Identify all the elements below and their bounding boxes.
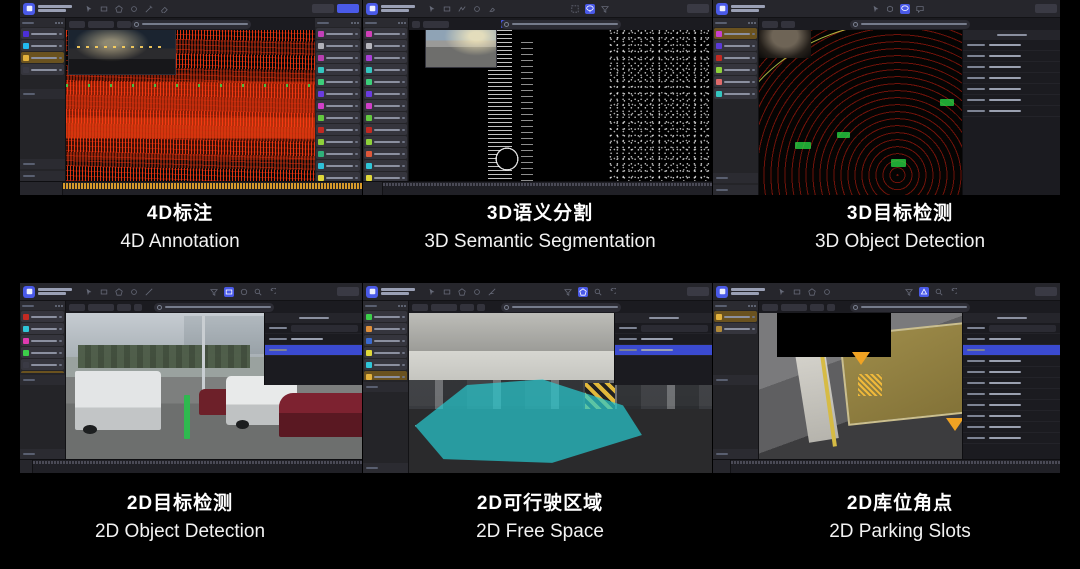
search-input[interactable] [850, 303, 970, 312]
annotated-car [279, 393, 362, 437]
frame-button[interactable] [117, 304, 131, 311]
sidebar-section[interactable] [713, 449, 758, 459]
panel-4d-annotation[interactable] [20, 0, 362, 195]
caption-english: 3D Semantic Segmentation [360, 228, 720, 255]
corner-point-cluster [858, 374, 882, 396]
filter-icon[interactable] [210, 288, 218, 296]
caption-row-top: 4D标注 4D Annotation 3D语义分割 3D Semantic Se… [0, 200, 1080, 255]
timeline[interactable] [20, 459, 362, 473]
line-icon[interactable] [145, 288, 153, 296]
caption-chinese: 2D可行驶区域 [360, 490, 720, 518]
toolbar-secondary[interactable] [210, 287, 276, 297]
app-title [381, 288, 415, 295]
app-title [381, 5, 415, 12]
search-icon [134, 22, 139, 27]
magic-wand-icon[interactable] [145, 5, 153, 13]
class-sidebar[interactable] [713, 301, 759, 459]
more-options-icon[interactable] [398, 305, 406, 307]
class-list[interactable] [713, 27, 758, 100]
point-icon[interactable] [823, 288, 831, 296]
frame-button[interactable] [117, 21, 131, 28]
caption-english: 2D Object Detection [0, 518, 360, 545]
rectangle-icon[interactable] [793, 288, 801, 296]
titlebar-actions[interactable] [1035, 4, 1057, 13]
class-list[interactable] [363, 27, 408, 181]
toolbar-secondary[interactable] [564, 287, 616, 297]
caption-chinese: 3D目标检测 [720, 200, 1080, 228]
class-item[interactable] [714, 88, 757, 99]
toolbar[interactable] [85, 288, 153, 296]
polyline-icon[interactable] [458, 5, 466, 13]
class-sidebar[interactable] [713, 18, 759, 195]
sidebar-section[interactable] [20, 171, 65, 181]
timeline-label [713, 460, 731, 473]
frame-ruler[interactable] [731, 460, 1060, 473]
titlebar-actions[interactable] [1035, 287, 1057, 296]
filter-icon[interactable] [601, 5, 609, 13]
viewport-2d-object-detection[interactable] [66, 301, 362, 459]
app-titlebar [713, 283, 1060, 301]
class-list[interactable] [20, 27, 65, 87]
polygon-icon[interactable] [458, 288, 466, 296]
corner-marker-icon [946, 418, 964, 431]
class-item[interactable] [21, 28, 64, 39]
view-mode-button[interactable] [762, 304, 778, 311]
class-item[interactable] [316, 124, 360, 135]
class-item[interactable] [364, 160, 407, 171]
more-options-icon[interactable] [55, 305, 63, 307]
sidebar-section[interactable] [20, 89, 65, 99]
class-item[interactable] [316, 100, 360, 111]
panel-2d-object-detection[interactable] [20, 283, 362, 473]
circle-icon[interactable] [240, 288, 248, 296]
app-title [731, 288, 765, 295]
class-item[interactable] [316, 136, 360, 147]
sidebar-section[interactable] [713, 173, 758, 183]
class-item[interactable] [316, 172, 360, 181]
titlebar-actions[interactable] [687, 287, 709, 296]
layer-button[interactable] [781, 304, 807, 311]
fit-button[interactable] [134, 304, 142, 311]
sidebar-section[interactable] [713, 375, 758, 385]
search-input[interactable] [501, 20, 621, 29]
view-mode-button[interactable] [762, 21, 778, 28]
class-item[interactable] [316, 160, 360, 171]
class-item[interactable] [316, 88, 360, 99]
class-item[interactable] [364, 148, 407, 159]
property-row[interactable] [963, 51, 1060, 62]
caption-chinese: 3D语义分割 [360, 200, 720, 228]
class-item[interactable] [714, 64, 757, 75]
panel-body [713, 301, 1060, 459]
property-row[interactable] [963, 422, 1060, 433]
class-item[interactable] [364, 172, 407, 181]
app-titlebar [20, 283, 362, 301]
toolbar-secondary[interactable] [905, 287, 957, 297]
panel-body [363, 301, 712, 473]
properties-title [963, 30, 1060, 40]
comment-icon[interactable] [916, 5, 924, 13]
secondary-action-button[interactable] [312, 4, 334, 13]
polygon-select-icon[interactable] [578, 287, 588, 297]
caption-english: 2D Free Space [360, 518, 720, 545]
rectangle-icon[interactable] [100, 288, 108, 296]
layer-button[interactable] [423, 21, 449, 28]
property-row[interactable] [615, 323, 712, 334]
filter-icon[interactable] [905, 288, 913, 296]
caption-2d-object-detection: 2D目标检测 2D Object Detection [0, 490, 360, 545]
property-row-selected[interactable] [963, 345, 1060, 356]
fit-button[interactable] [827, 304, 835, 311]
properties-title [963, 313, 1060, 323]
point-icon[interactable] [473, 288, 481, 296]
property-row[interactable] [963, 411, 1060, 422]
polygon-icon[interactable] [115, 288, 123, 296]
property-row[interactable] [963, 106, 1060, 117]
panel-body [20, 18, 362, 181]
property-row[interactable] [265, 334, 362, 345]
viewport-2d-parking-slots[interactable] [759, 301, 1060, 459]
class-item[interactable] [21, 64, 64, 75]
point-icon[interactable] [130, 288, 138, 296]
property-row[interactable] [963, 389, 1060, 400]
class-item-selected[interactable] [21, 52, 64, 63]
search-icon [504, 305, 509, 310]
search-input[interactable] [131, 20, 251, 29]
toolbar[interactable] [778, 288, 831, 296]
sidebar-section[interactable] [363, 463, 408, 473]
class-list[interactable] [20, 310, 65, 373]
viewport-2d-free-space[interactable] [409, 301, 712, 473]
panel-body [363, 18, 712, 181]
class-item[interactable] [316, 28, 360, 39]
layer-button[interactable] [431, 304, 457, 311]
app-title [731, 5, 765, 12]
class-item-selected[interactable] [714, 311, 757, 322]
app-logo-icon [366, 3, 378, 15]
viewport-4d-annotation[interactable] [66, 18, 315, 181]
layer-button[interactable] [88, 21, 114, 28]
class-item[interactable] [714, 323, 757, 334]
sidebar-header [20, 301, 65, 310]
cursor-icon[interactable] [428, 288, 436, 296]
polygon-icon[interactable] [808, 288, 816, 296]
class-item[interactable] [364, 76, 407, 87]
frame-button[interactable] [460, 304, 474, 311]
app-title [38, 5, 72, 12]
property-row[interactable] [963, 95, 1060, 106]
corner-marker-icon [852, 352, 870, 365]
more-options-icon[interactable] [351, 22, 359, 24]
lasso-icon[interactable] [900, 4, 910, 14]
point-icon[interactable] [130, 5, 138, 13]
point-icon[interactable] [473, 5, 481, 13]
toolbar[interactable] [85, 5, 168, 13]
view-mode-button[interactable] [69, 21, 85, 28]
property-row[interactable] [963, 367, 1060, 378]
sidebar-header [713, 301, 758, 310]
class-item[interactable] [364, 52, 407, 63]
caption-2d-free-space: 2D可行驶区域 2D Free Space [360, 490, 720, 545]
toolbar[interactable] [428, 5, 496, 13]
titlebar-actions[interactable] [312, 4, 359, 13]
app-logo-icon [23, 286, 35, 298]
annotated-bollard [184, 395, 190, 439]
toolbar[interactable] [428, 288, 496, 296]
toolbar-secondary[interactable] [571, 4, 609, 14]
secondary-action-button[interactable] [687, 287, 709, 296]
zoom-icon[interactable] [935, 288, 943, 296]
sidebar-header [20, 18, 65, 27]
sidebar-header [363, 18, 408, 27]
cursor-icon[interactable] [85, 288, 93, 296]
property-row[interactable] [963, 378, 1060, 389]
eraser-icon[interactable] [160, 5, 168, 13]
search-icon [853, 22, 858, 27]
property-row[interactable] [963, 433, 1060, 444]
app-logo-icon [716, 286, 728, 298]
property-row[interactable] [963, 73, 1060, 84]
search-input[interactable] [154, 303, 274, 312]
class-item[interactable] [364, 28, 407, 39]
sidebar-header [315, 18, 361, 27]
lasso-icon[interactable] [585, 4, 595, 14]
panel-3d-semantic-segmentation[interactable] [363, 0, 712, 195]
class-list[interactable] [713, 310, 758, 373]
class-item[interactable] [316, 64, 360, 75]
properties-panel[interactable] [962, 30, 1060, 195]
more-options-icon[interactable] [748, 22, 756, 24]
timeline[interactable] [363, 181, 712, 195]
titlebar-actions[interactable] [337, 287, 359, 296]
property-row[interactable] [963, 84, 1060, 95]
class-item[interactable] [21, 311, 64, 322]
class-item[interactable] [316, 40, 360, 51]
app-logo-icon [23, 3, 35, 15]
class-item[interactable] [364, 88, 407, 99]
caption-chinese: 2D库位角点 [720, 490, 1080, 518]
class-item[interactable] [364, 112, 407, 123]
undo-icon[interactable] [949, 288, 957, 296]
class-item[interactable] [364, 335, 407, 346]
polygon-icon[interactable] [115, 5, 123, 13]
timeline[interactable] [713, 459, 1060, 473]
node-edit-icon[interactable] [488, 288, 496, 296]
undo-icon[interactable] [268, 288, 276, 296]
app-logo-icon [366, 286, 378, 298]
properties-panel[interactable] [962, 313, 1060, 459]
property-row[interactable] [265, 323, 362, 334]
right-class-sidebar[interactable] [315, 18, 362, 181]
brush-icon[interactable] [488, 5, 496, 13]
panel-row-bottom [0, 283, 1080, 473]
cursor-icon[interactable] [428, 5, 436, 13]
sidebar-header [713, 18, 758, 27]
class-item[interactable] [714, 52, 757, 63]
filter-icon[interactable] [564, 288, 572, 296]
properties-panel[interactable] [614, 313, 712, 385]
class-item[interactable] [21, 335, 64, 346]
caption-chinese: 4D标注 [0, 200, 360, 228]
class-item-selected[interactable] [714, 28, 757, 39]
panel-body [20, 301, 362, 459]
properties-panel[interactable] [264, 313, 362, 385]
panel-3d-object-detection[interactable] [713, 0, 1060, 195]
panel-row-top [0, 0, 1080, 195]
app-logo-icon [716, 3, 728, 15]
timeline[interactable] [20, 181, 362, 195]
caption-3d-semantic-segmentation: 3D语义分割 3D Semantic Segmentation [360, 200, 720, 255]
frame-ruler[interactable] [33, 460, 362, 473]
sidebar-section[interactable] [363, 382, 408, 392]
rectangle-select-icon[interactable] [224, 287, 234, 297]
class-item[interactable] [364, 136, 407, 147]
property-row[interactable] [963, 62, 1060, 73]
class-item[interactable] [714, 40, 757, 51]
class-sidebar[interactable] [363, 301, 409, 473]
rectangle-icon[interactable] [443, 5, 451, 13]
class-item[interactable] [21, 359, 64, 370]
more-options-icon[interactable] [398, 22, 406, 24]
panel-2d-parking-slots[interactable] [713, 283, 1060, 473]
class-item[interactable] [21, 347, 64, 358]
timeline-label [20, 182, 63, 195]
class-item[interactable] [316, 52, 360, 63]
property-row-selected[interactable] [265, 345, 362, 356]
class-item[interactable] [364, 100, 407, 111]
property-row[interactable] [963, 400, 1060, 411]
class-sidebar[interactable] [20, 18, 66, 181]
caption-chinese: 2D目标检测 [0, 490, 360, 518]
search-icon [853, 305, 858, 310]
view-mode-button[interactable] [412, 304, 428, 311]
search-input[interactable] [501, 303, 621, 312]
cursor-icon[interactable] [85, 5, 93, 13]
layer-button[interactable] [88, 304, 114, 311]
class-item[interactable] [364, 64, 407, 75]
caption-english: 4D Annotation [0, 228, 360, 255]
properties-title [615, 313, 712, 323]
close-icon[interactable] [412, 21, 420, 28]
cursor-icon[interactable] [872, 5, 880, 13]
property-row[interactable] [963, 323, 1060, 334]
view-mode-button[interactable] [69, 304, 85, 311]
class-item[interactable] [364, 311, 407, 322]
showcase-board: 4D标注 4D Annotation 3D语义分割 3D Semantic Se… [0, 0, 1080, 569]
frame-button[interactable] [781, 21, 795, 28]
caption-3d-object-detection: 3D目标检测 3D Object Detection [720, 200, 1080, 255]
caption-english: 3D Object Detection [720, 228, 1080, 255]
cuboid-icon[interactable] [886, 5, 894, 13]
class-item[interactable] [316, 112, 360, 123]
frame-ruler[interactable] [383, 182, 712, 195]
class-list[interactable] [363, 310, 408, 380]
caption-english: 2D Parking Slots [720, 518, 1080, 545]
class-item[interactable] [364, 40, 407, 51]
app-titlebar [363, 0, 712, 18]
corner-point-icon[interactable] [919, 287, 929, 297]
caption-4d-annotation: 4D标注 4D Annotation [0, 200, 360, 255]
search-input[interactable] [850, 20, 970, 29]
timeline-label [363, 182, 383, 195]
more-options-icon[interactable] [55, 22, 63, 24]
class-item[interactable] [316, 76, 360, 87]
class-item[interactable] [364, 347, 407, 358]
panel-2d-free-space[interactable] [363, 283, 712, 473]
properties-title [265, 313, 362, 323]
toolbar[interactable] [872, 4, 924, 14]
property-row[interactable] [963, 334, 1060, 345]
property-row[interactable] [963, 40, 1060, 51]
caption-row-bottom: 2D目标检测 2D Object Detection 2D可行驶区域 2D Fr… [0, 490, 1080, 545]
class-item[interactable] [364, 359, 407, 370]
sidebar-section[interactable] [20, 449, 65, 459]
zoom-icon[interactable] [594, 288, 602, 296]
class-item[interactable] [316, 148, 360, 159]
sidebar-section[interactable] [713, 185, 758, 195]
class-list[interactable] [315, 27, 361, 181]
rectangle-icon[interactable] [443, 288, 451, 296]
class-item[interactable] [364, 124, 407, 135]
sidebar-section[interactable] [20, 159, 65, 169]
app-titlebar [363, 283, 712, 301]
property-row-selected[interactable] [615, 345, 712, 356]
secondary-action-button[interactable] [337, 287, 359, 296]
sidebar-header [363, 301, 408, 310]
rectangle-icon[interactable] [100, 5, 108, 13]
class-item[interactable] [364, 323, 407, 334]
class-item[interactable] [21, 40, 64, 51]
more-options-icon[interactable] [748, 305, 756, 307]
class-item-selected[interactable] [21, 371, 64, 373]
cursor-icon[interactable] [778, 288, 786, 296]
search-icon [504, 22, 509, 27]
viewport-3d-semantic-segmentation[interactable] [409, 18, 712, 181]
primary-action-button[interactable] [337, 4, 359, 13]
panel-body [713, 18, 1060, 195]
app-title [38, 288, 72, 295]
secondary-action-button[interactable] [1035, 4, 1057, 13]
class-item-selected[interactable] [364, 371, 407, 380]
class-item[interactable] [714, 76, 757, 87]
class-sidebar[interactable] [363, 18, 409, 181]
class-sidebar[interactable] [20, 301, 66, 459]
property-row[interactable] [963, 356, 1060, 367]
frame-button[interactable] [810, 304, 824, 311]
app-titlebar [713, 0, 1060, 18]
square-select-icon[interactable] [571, 5, 579, 13]
frame-ruler[interactable] [63, 182, 362, 195]
annotated-truck [75, 371, 161, 429]
class-item[interactable] [21, 323, 64, 334]
secondary-action-button[interactable] [1035, 287, 1057, 296]
zoom-icon[interactable] [254, 288, 262, 296]
titlebar-actions[interactable] [687, 4, 709, 13]
undo-icon[interactable] [608, 288, 616, 296]
caption-2d-parking-slots: 2D库位角点 2D Parking Slots [720, 490, 1080, 545]
secondary-action-button[interactable] [687, 4, 709, 13]
app-titlebar [20, 0, 362, 18]
timeline-label [20, 460, 33, 473]
search-icon [157, 305, 162, 310]
property-row[interactable] [615, 334, 712, 345]
sidebar-section[interactable] [20, 375, 65, 385]
fit-button[interactable] [477, 304, 485, 311]
